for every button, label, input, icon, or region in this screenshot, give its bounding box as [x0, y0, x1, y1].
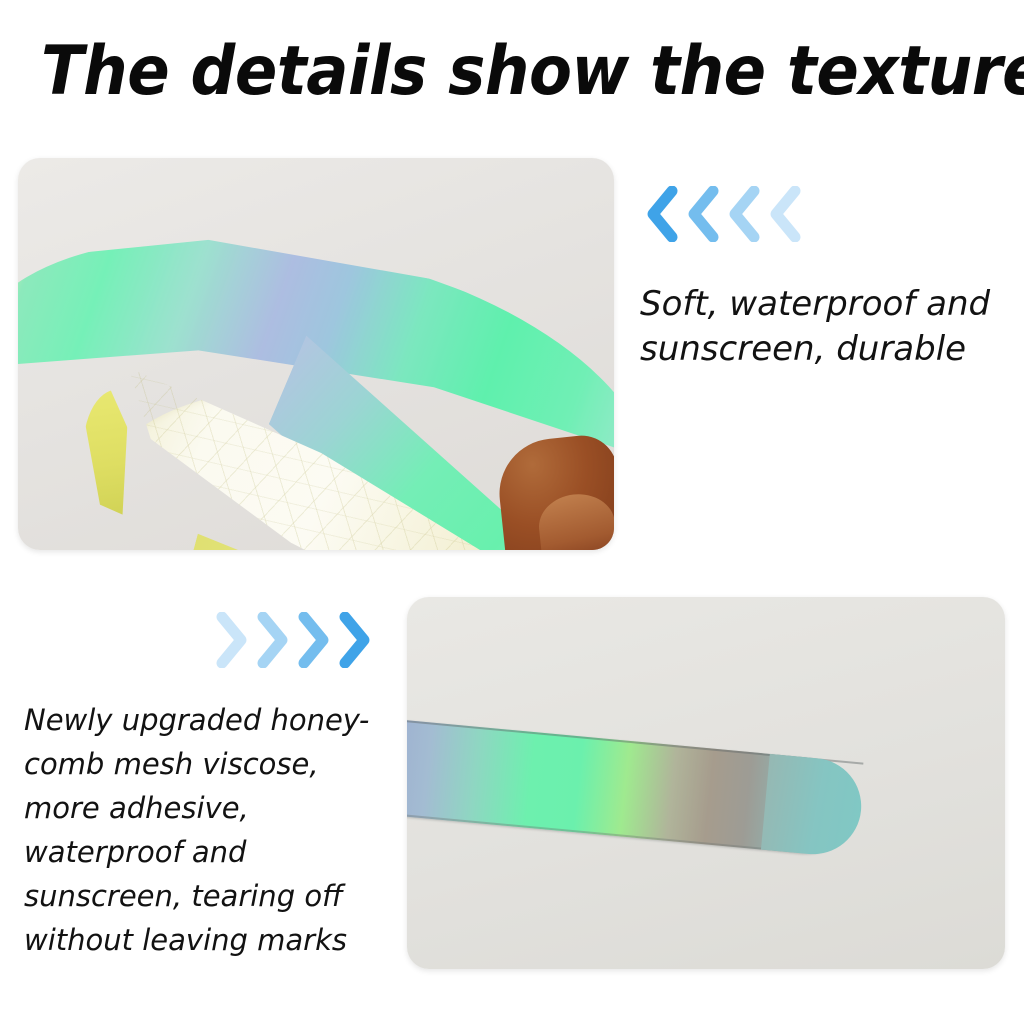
feature-caption-honeycomb-mesh: Newly upgraded honey-comb mesh viscose, …: [24, 698, 396, 962]
feature-caption-soft-waterproof: Soft, waterproof and sunscreen, durable: [640, 282, 992, 372]
tape-strip-illustration: [407, 597, 1005, 969]
chevron-left-icon: [683, 186, 721, 242]
tape-strip-bottom-edge: [407, 813, 795, 853]
infographic-page: The details show the texture: [0, 0, 1024, 1024]
chevron-left-group: [642, 186, 803, 242]
tape-loop-illustration: [18, 158, 614, 550]
tape-strip-rounded-tip: [761, 754, 865, 858]
page-title: The details show the texture: [41, 38, 983, 106]
chevron-left-icon: [724, 186, 762, 242]
thumb-holding-tape: [494, 432, 614, 550]
tape-strip-body: [407, 719, 863, 858]
chevron-left-icon: [642, 186, 680, 242]
chevron-right-icon: [255, 612, 293, 668]
chevron-left-icon: [765, 186, 803, 242]
chevron-right-icon: [337, 612, 375, 668]
chevron-right-group: [214, 612, 375, 668]
holographic-tape-strip-photo: [407, 597, 1005, 969]
holographic-tape-loop-photo: [18, 158, 614, 550]
thumbnail-highlight: [536, 491, 614, 550]
chevron-right-icon: [296, 612, 334, 668]
chevron-right-icon: [214, 612, 252, 668]
